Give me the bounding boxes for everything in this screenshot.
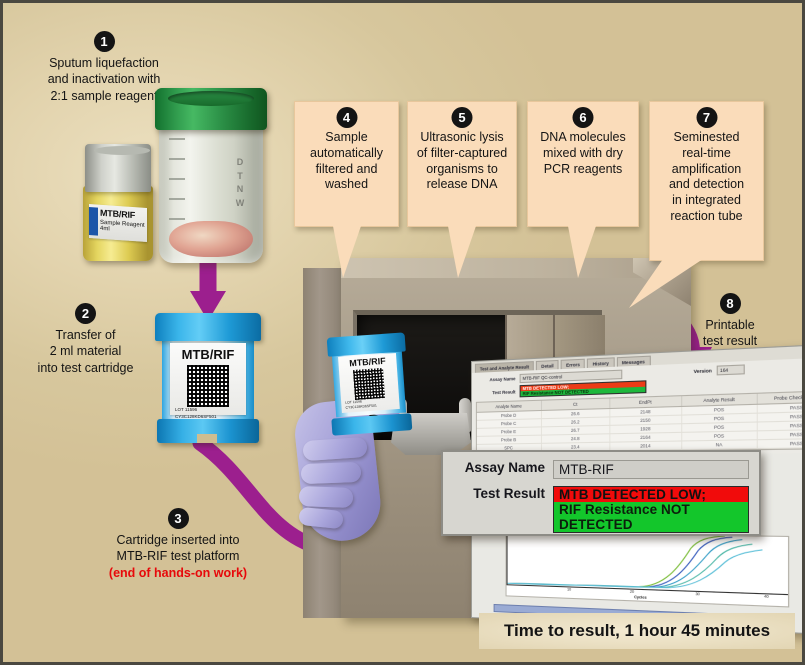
test-result-box: MTB DETECTED LOW; RIF Resistance NOT DET… xyxy=(520,380,647,397)
cell-endpt: 2014 xyxy=(610,441,682,450)
tab-history[interactable]: History xyxy=(587,357,614,368)
cartridge-label: MTB/RIF LOT 11596 CY3C128KD6SF501 xyxy=(170,343,246,415)
callout-step-6: 6 DNA molecules mixed with dry PCR reage… xyxy=(527,101,639,227)
cell-endpt: 2164 xyxy=(610,433,682,442)
step-7-line-1: Seminested xyxy=(656,130,757,146)
result-zoom-inset: Assay Name MTB-RIF Test Result MTB DETEC… xyxy=(441,450,761,536)
sputum-sample xyxy=(169,221,253,257)
bottle-cap xyxy=(85,144,151,192)
cell-probe-check: PASS xyxy=(758,421,805,431)
step-2-number: 2 xyxy=(75,303,96,324)
test-cartridge: MTB/RIF LOT 11596 CY3C128KD6SF501 xyxy=(153,313,263,443)
step-6-line-1: DNA molecules xyxy=(534,130,632,146)
step-8-line-2: test result xyxy=(675,333,785,349)
held-cartridge-label: MTB/RIF LOT 11596 CY3C128KD6SF501 xyxy=(338,353,400,413)
step-3-line-1: Cartridge inserted into xyxy=(78,532,278,548)
cell-analyte-name: Probe B xyxy=(477,436,542,444)
cartridge-top-cap xyxy=(155,313,261,341)
cell-endpt: 1928 xyxy=(610,424,682,433)
callout-step-7: 7 Seminested real-time amplification and… xyxy=(649,101,764,261)
bottle-label: MTB/RIF Sample Reagent 4ml xyxy=(89,204,147,242)
cell-analyte-name: Probe E xyxy=(477,427,542,435)
held-test-cartridge: MTB/RIF LOT 11596 CY3C128KD6SF501 xyxy=(325,332,414,435)
inset-assay-name-value: MTB-RIF xyxy=(553,460,749,479)
cup-side-text: D T N W xyxy=(229,156,251,210)
callout-step-4: 4 Sample automatically filtered and wash… xyxy=(294,101,399,227)
inset-result-mtb-detected: MTB DETECTED LOW; xyxy=(554,487,748,502)
callout-6-tail xyxy=(568,226,596,278)
specimen-cup: D T N W xyxy=(155,88,267,263)
chart-xtick-10: 10 xyxy=(567,587,571,591)
step-7-line-4: and detection xyxy=(656,177,757,193)
step-6-number: 6 xyxy=(573,107,594,128)
inset-test-result-label: Test Result xyxy=(453,486,553,501)
callout-4-tail xyxy=(333,226,361,278)
step-1-line-1: Sputum liquefaction xyxy=(9,55,199,71)
tab-errors[interactable]: Errors xyxy=(561,359,585,369)
hand-finger-3 xyxy=(299,486,354,508)
held-cartridge-barcode xyxy=(353,368,385,400)
cartridge-label-name: MTB/RIF xyxy=(170,347,246,362)
chart-xtick-40: 40 xyxy=(764,594,769,599)
cup-lid xyxy=(155,88,267,130)
step-8-number: 8 xyxy=(720,293,741,314)
cartridge-barcode xyxy=(187,365,229,407)
step-7-line-5: in integrated xyxy=(656,193,757,209)
bottle-label-sub: Sample Reagent 4ml xyxy=(100,220,147,235)
col-endpt: EndPt xyxy=(610,396,682,408)
tab-messages[interactable]: Messages xyxy=(616,356,650,367)
step-7-line-2: real-time xyxy=(656,146,757,162)
bottle-glass: MTB/RIF Sample Reagent 4ml xyxy=(83,186,153,261)
cell-probe-check: PASS xyxy=(758,412,805,422)
col-analyte-name: Analyte Name xyxy=(477,401,542,412)
inset-test-result-row: Test Result MTB DETECTED LOW; RIF Resist… xyxy=(453,486,749,533)
cell-probe-check: PASS xyxy=(758,439,805,448)
cell-probe-check: PASS xyxy=(758,430,805,439)
step-7-line-6: reaction tube xyxy=(656,209,757,225)
cell-ct: 24.8 xyxy=(542,434,610,443)
bottle-label-name: MTB/RIF xyxy=(100,208,135,220)
inset-assay-name-label: Assay Name xyxy=(453,460,553,475)
step-6-line-2: mixed with dry xyxy=(534,146,632,162)
step-5-line-2: of filter-captured xyxy=(414,146,510,162)
step-4-number: 4 xyxy=(336,107,357,128)
step-7-number: 7 xyxy=(696,107,717,128)
step-8-line-1: Printable xyxy=(675,317,785,333)
cell-analyte-result: POS xyxy=(682,414,758,423)
step-5-number: 5 xyxy=(452,107,473,128)
step-6-line-3: PCR reagents xyxy=(534,162,632,178)
step-1-line-2: and inactivation with xyxy=(9,71,199,87)
step-1-number: 1 xyxy=(94,31,115,52)
tab-detail[interactable]: Detail xyxy=(536,360,559,370)
step-3-line-2: MTB-RIF test platform xyxy=(78,548,278,564)
col-analyte-result: Analyte Result xyxy=(682,394,758,406)
cell-analyte-name: Probe C xyxy=(477,419,542,428)
time-to-result-text: Time to result, 1 hour 45 minutes xyxy=(504,621,770,641)
version-value: 164 xyxy=(717,364,745,375)
step-3-emphasis: (end of hands-on work) xyxy=(78,565,278,581)
callout-step-5: 5 Ultrasonic lysis of filter-captured or… xyxy=(407,101,517,227)
step-5-line-3: organisms to xyxy=(414,162,510,178)
cartridge-notch xyxy=(197,434,217,443)
chart-xtick-20: 20 xyxy=(630,590,634,594)
label-blue-strip xyxy=(89,207,98,236)
step-4-line-3: filtered and xyxy=(301,162,392,178)
step-3-number: 3 xyxy=(168,508,189,529)
col-probe-check-result: Probe Check Result xyxy=(758,391,805,404)
step-8-label: 8 Printable test result xyxy=(675,293,785,350)
inset-result-box: MTB DETECTED LOW; RIF Resistance NOT DET… xyxy=(553,486,749,533)
cell-analyte-result: NA xyxy=(682,440,758,449)
step-2-label: 2 Transfer of 2 ml material into test ca… xyxy=(13,303,158,376)
cell-analyte-result: POS xyxy=(682,431,758,440)
step-7-line-3: amplification xyxy=(656,162,757,178)
amplification-curve-chart: 10 20 30 40 Cycles xyxy=(506,532,790,608)
chart-xtick-30: 30 xyxy=(695,592,699,596)
assay-name-label: Assay Name xyxy=(476,376,516,383)
cell-endpt: 2150 xyxy=(610,416,682,425)
step-4-line-2: automatically xyxy=(301,146,392,162)
callout-5-tail xyxy=(448,226,476,278)
version-label: Version xyxy=(694,368,712,374)
step-3-label: 3 Cartridge inserted into MTB-RIF test p… xyxy=(78,508,278,581)
inset-assay-name-row: Assay Name MTB-RIF xyxy=(453,460,749,479)
analyte-result-table: Analyte Name Ct EndPt Analyte Result Pro… xyxy=(476,390,805,454)
step-4-line-1: Sample xyxy=(301,130,392,146)
workflow-diagram: 1 Sputum liquefaction and inactivation w… xyxy=(0,0,805,665)
test-result-label: Test Result xyxy=(476,389,516,395)
hand-finger-2 xyxy=(301,462,362,484)
arrow-cup-to-cartridge xyxy=(190,258,226,321)
step-5-line-4: release DNA xyxy=(414,177,510,193)
step-2-line-1: Transfer of xyxy=(13,327,158,343)
sample-reagent-bottle: MTB/RIF Sample Reagent 4ml xyxy=(81,144,155,261)
cartridge-lot-1: LOT 11596 xyxy=(175,407,246,414)
cell-ct: 26.2 xyxy=(542,417,610,426)
held-cartridge-label-name: MTB/RIF xyxy=(338,355,397,369)
cell-probe-check: PASS xyxy=(758,403,805,413)
cup-body: D T N W xyxy=(159,116,263,263)
col-ct: Ct xyxy=(542,399,610,410)
step-2-line-3: into test cartridge xyxy=(13,360,158,376)
inset-result-rif-not-detected: RIF Resistance NOT DETECTED xyxy=(554,502,748,532)
step-2-line-2: 2 ml material xyxy=(13,343,158,359)
step-4-line-4: washed xyxy=(301,177,392,193)
hand-finger-4 xyxy=(298,507,344,530)
chart-curves xyxy=(508,533,788,596)
step-5-line-1: Ultrasonic lysis xyxy=(414,130,510,146)
cell-analyte-result: POS xyxy=(682,423,758,432)
window-body: Assay Name MTB-RIF QC-control Version 16… xyxy=(472,357,805,457)
cell-ct: 26.7 xyxy=(542,426,610,435)
time-to-result-banner: Time to result, 1 hour 45 minutes xyxy=(479,613,795,649)
